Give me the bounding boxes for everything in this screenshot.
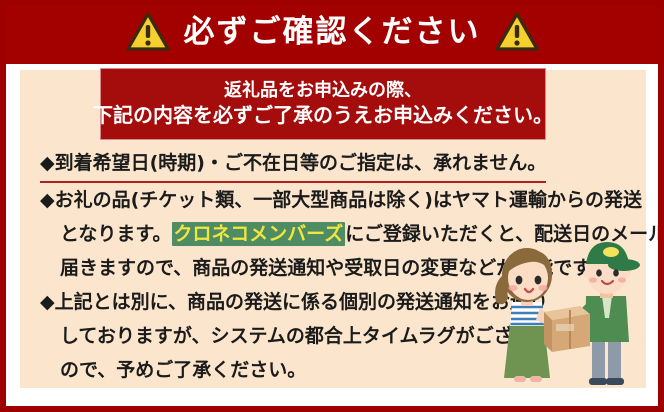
sub-banner-line-1: 返礼品をお申込みの際、 [224, 80, 422, 103]
notice-card: 必ずご確認ください 返礼品をお申込みの際、 下記の内容を必ずご了承のうえお申込み… [0, 0, 664, 412]
bullet-marker-2: ◆ [40, 189, 55, 211]
delivery-handoff-illustration [452, 228, 642, 388]
bullet-item-2: ◆お礼の品(チケット類、一部大型商品は除く)はヤマト運輸からの発送 [40, 183, 630, 217]
sub-banner: 返礼品をお申込みの際、 下記の内容を必ずご了承のうえお申込みください。 [100, 68, 546, 140]
bullet-2-line-1: お礼の品(チケット類、一部大型商品は除く)はヤマト運輸からの発送 [55, 189, 642, 211]
warning-triangle-icon-left [126, 12, 170, 52]
bullet-2-line-2: となります。 [60, 223, 172, 245]
bullet-marker-3: ◆ [40, 291, 55, 313]
bullet-1-line-1: 到着希望日(時期)・ご不在日等のご指定は、承れません。 [55, 152, 547, 174]
white-gutter-bottom [6, 388, 658, 406]
bullet-marker-1: ◆ [40, 152, 55, 174]
sub-banner-line-2: 下記の内容を必ずご了承のうえお申込みください。 [93, 103, 553, 128]
warning-triangle-icon-right [495, 12, 539, 52]
bullet-item-1: ◆到着希望日(時期)・ご不在日等のご指定は、承れません。 [40, 146, 630, 183]
white-gutter-left [6, 64, 20, 406]
kuroneko-members-highlight[interactable]: クロネコメンバーズ [172, 222, 346, 246]
header-band: 必ずご確認ください [0, 0, 664, 64]
page-title: 必ずご確認ください [184, 17, 481, 48]
bullet-3-line-3: ので、予めご了承ください。 [60, 359, 306, 381]
